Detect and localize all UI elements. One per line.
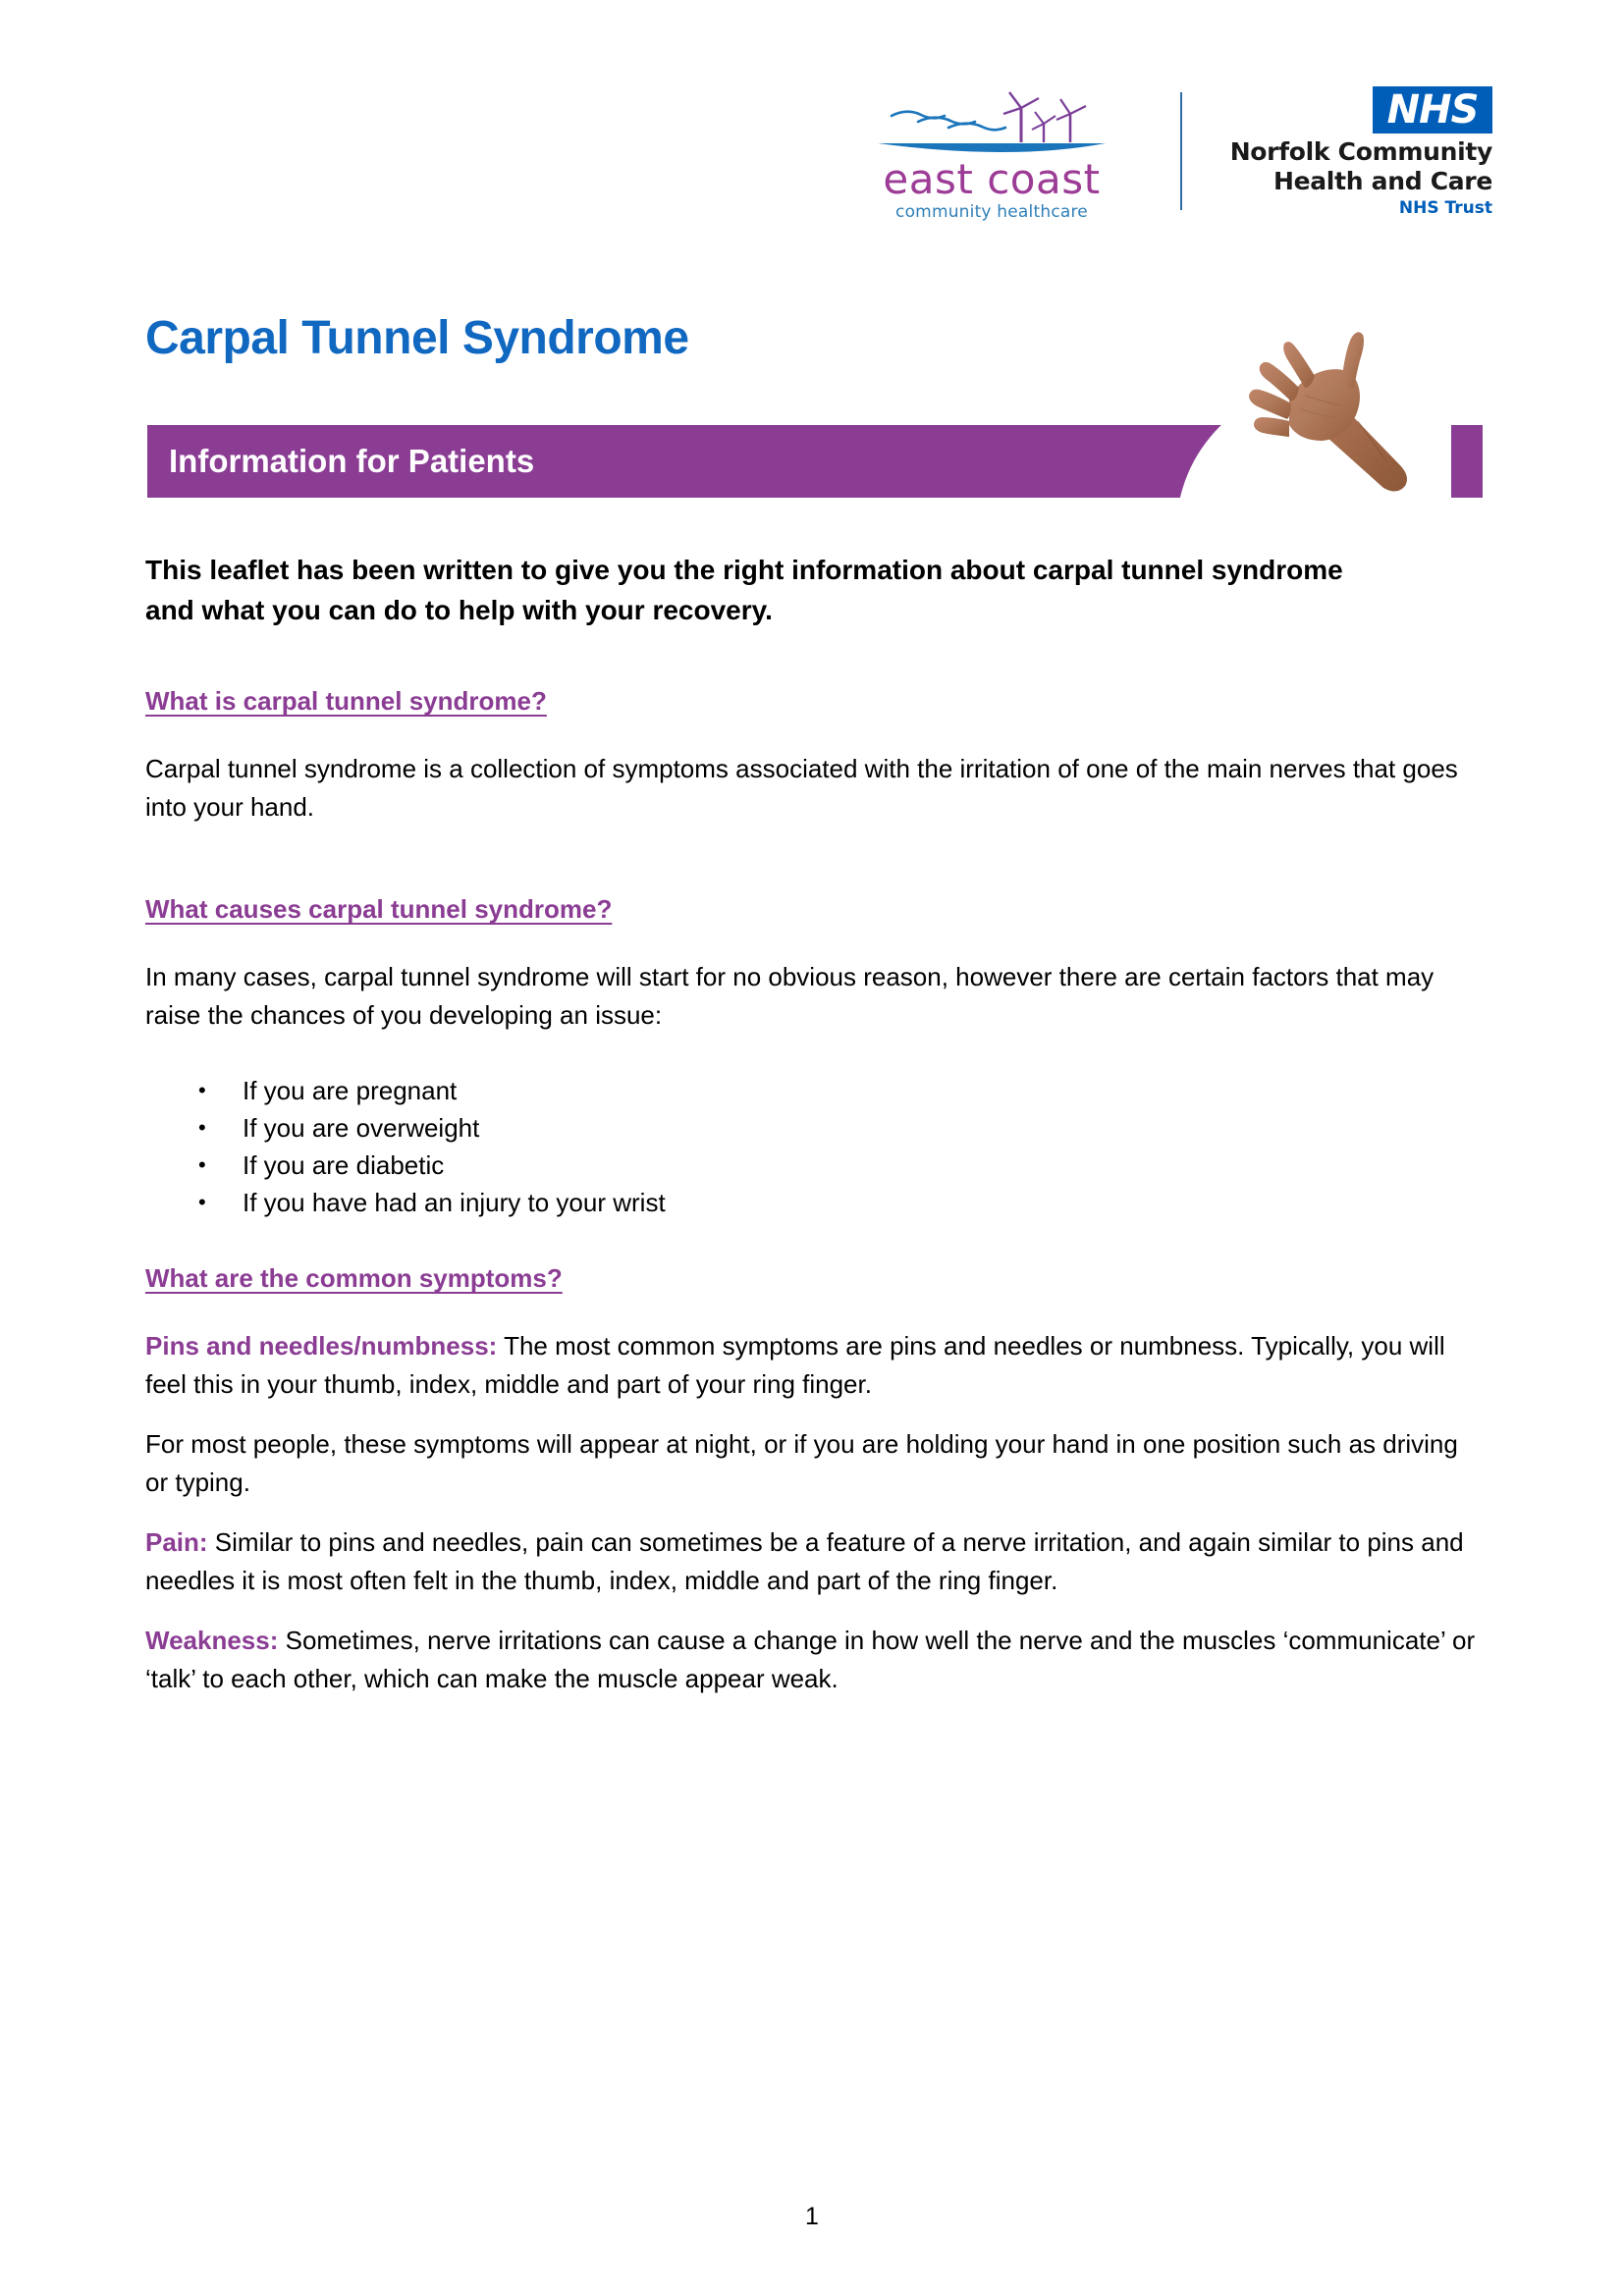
page-number: 1 <box>0 2202 1624 2231</box>
list-item: If you are pregnant <box>145 1072 1477 1109</box>
symptom-weakness: Weakness: Sometimes, nerve irritations c… <box>145 1622 1477 1698</box>
logo-bar: east coast community healthcare NHS Norf… <box>864 86 1492 224</box>
lead-paragraph: This leaflet has been written to give yo… <box>145 550 1353 630</box>
section-heading-what-is: What is carpal tunnel syndrome? <box>145 685 1477 717</box>
section-paragraph: Carpal tunnel syndrome is a collection o… <box>145 750 1477 827</box>
banner-tail-block <box>1451 425 1483 498</box>
risk-factor-list: If you are pregnant If you are overweigh… <box>145 1072 1477 1221</box>
symptom-pins-and-needles: Pins and needles/numbness: The most comm… <box>145 1327 1477 1404</box>
nhs-trust-name: Norfolk Community Health and Care <box>1218 137 1492 196</box>
symptom-label: Pain: <box>145 1527 208 1557</box>
list-item: If you are overweight <box>145 1109 1477 1147</box>
nhs-trust-name-line2: Health and Care <box>1273 167 1492 195</box>
list-item: If you have had an injury to your wrist <box>145 1184 1477 1221</box>
section-paragraph: In many cases, carpal tunnel syndrome wi… <box>145 958 1477 1035</box>
spacer <box>145 1251 1477 1262</box>
banner-label: Information for Patients <box>169 425 534 498</box>
symptom-pain: Pain: Similar to pins and needles, pain … <box>145 1523 1477 1600</box>
section-heading-what-causes: What causes carpal tunnel syndrome? <box>145 893 1477 925</box>
symptom-label: Pins and needles/numbness: <box>145 1331 497 1361</box>
east-coast-community-healthcare-logo: east coast community healthcare <box>864 86 1119 224</box>
nhs-norfolk-community-health-and-care-logo: NHS Norfolk Community Health and Care NH… <box>1218 86 1492 224</box>
list-item: If you are diabetic <box>145 1147 1477 1184</box>
nhs-badge: NHS <box>1373 86 1492 133</box>
symptom-timing-note: For most people, these symptoms will app… <box>145 1425 1477 1502</box>
document-page: east coast community healthcare NHS Norf… <box>0 0 1624 2296</box>
symptom-text: Similar to pins and needles, pain can so… <box>145 1527 1464 1595</box>
symptom-text: Sometimes, nerve irritations can cause a… <box>145 1626 1475 1693</box>
east-coast-tagline: community healthcare <box>864 202 1119 222</box>
logo-divider <box>1180 92 1182 210</box>
east-coast-wordmark: east coast <box>864 157 1119 202</box>
symptom-label: Weakness: <box>145 1626 278 1655</box>
section-heading-common-symptoms: What are the common symptoms? <box>145 1262 1477 1294</box>
spacer <box>145 864 1477 893</box>
page-title: Carpal Tunnel Syndrome <box>145 310 689 367</box>
document-body: This leaflet has been written to give yo… <box>145 550 1477 1720</box>
open-hand-palm-photo <box>1232 319 1448 501</box>
nhs-trust-name-line1: Norfolk Community <box>1230 137 1492 166</box>
symptom-text: For most people, these symptoms will app… <box>145 1429 1458 1497</box>
nhs-trust-suffix: NHS Trust <box>1218 198 1492 218</box>
